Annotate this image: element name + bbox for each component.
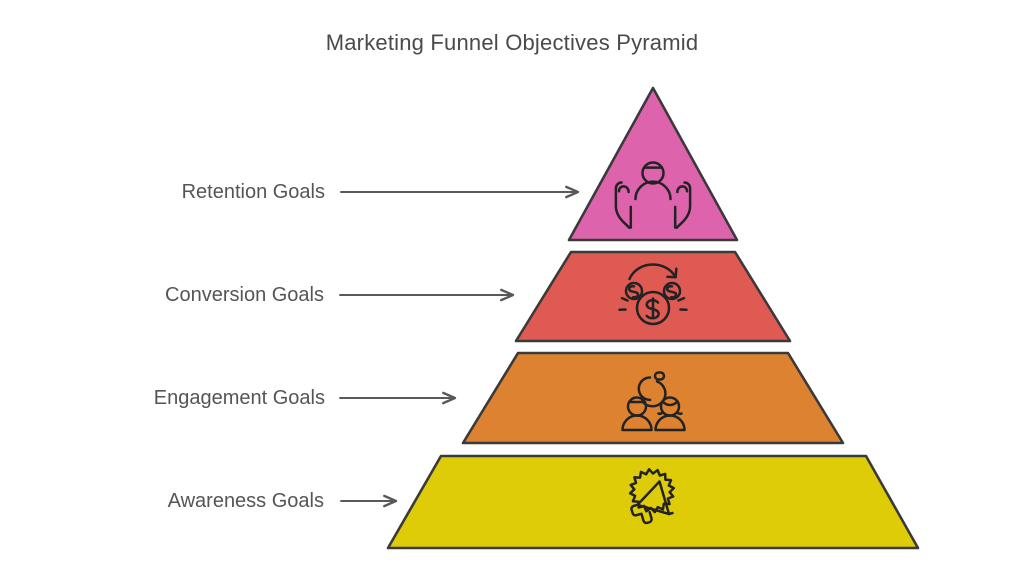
tier-label-awareness: Awareness Goals [168,490,324,513]
pyramid-diagram [0,0,1024,577]
pyramid-level-engagement[interactable] [463,353,843,443]
engagement-tier-shape[interactable] [463,353,843,443]
retention-tier-shape[interactable] [569,88,737,240]
connector-arrows [340,192,578,501]
diagram-canvas: Marketing Funnel Objectives Pyramid [0,0,1024,577]
pyramid-level-awareness[interactable] [388,456,918,548]
tier-label-retention: Retention Goals [182,181,325,204]
tier-label-conversion: Conversion Goals [165,284,324,307]
awareness-tier-shape[interactable] [388,456,918,548]
tier-label-engagement: Engagement Goals [154,387,325,410]
pyramid-level-retention[interactable] [569,88,737,240]
pyramid-level-conversion[interactable] [516,252,790,341]
